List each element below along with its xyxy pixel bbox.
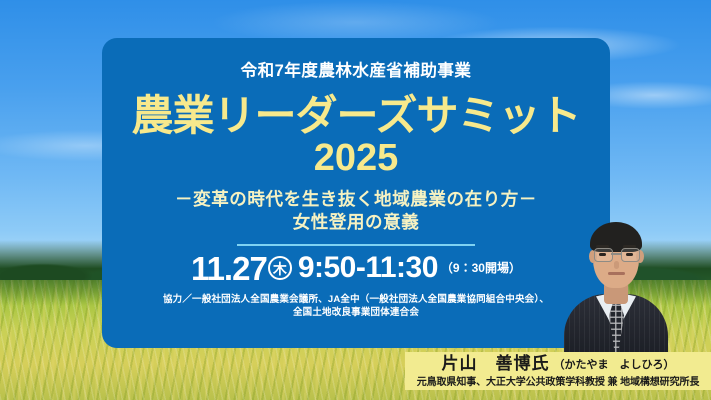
portrait-glasses-bridge xyxy=(611,253,621,255)
subtitle-block: －変革の時代を生き抜く地域農業の在り方－ 女性登用の意義 xyxy=(116,188,596,234)
info-panel: 令和7年度農林水産省補助事業 農業リーダーズサミット 2025 －変革の時代を生… xyxy=(102,38,610,348)
speaker-caption-band: 片山 善博氏（かたやま よしひろ） 元鳥取県知事、大正大学公共政策学科教授 兼 … xyxy=(405,352,711,390)
speaker-name-row: 片山 善博氏（かたやま よしひろ） xyxy=(405,355,711,374)
sponsors-line-1: 協力／一般社団法人全国農業会議所、JA全中（一般社団法人全国農業協同組合中央会）… xyxy=(116,293,596,307)
speaker-name: 片山 善博氏 xyxy=(442,354,550,373)
event-datetime: 11.27木9:50-11:30（9：30開場） xyxy=(116,252,596,285)
portrait-eye-left xyxy=(599,253,606,256)
program-eyebrow: 令和7年度農林水産省補助事業 xyxy=(116,62,596,82)
event-day-of-week-badge: 木 xyxy=(268,256,292,280)
portrait-mouth xyxy=(608,272,625,275)
subtitle-line-2: 女性登用の意義 xyxy=(116,211,596,234)
subtitle-line-1: －変革の時代を生き抜く地域農業の在り方－ xyxy=(116,188,596,211)
event-poster: 令和7年度農林水産省補助事業 農業リーダーズサミット 2025 －変革の時代を生… xyxy=(0,0,711,400)
speaker-role: 元鳥取県知事、大正大学公共政策学科教授 兼 地域構想研究所長 xyxy=(405,376,711,390)
page-title: 農業リーダーズサミット xyxy=(116,93,596,138)
portrait-eye-right xyxy=(626,253,633,256)
event-date: 11.27 xyxy=(191,250,267,287)
sponsors-block: 協力／一般社団法人全国農業会議所、JA全中（一般社団法人全国農業協同組合中央会）… xyxy=(116,293,596,321)
event-time: 9:50-11:30 xyxy=(298,251,438,284)
title-year: 2025 xyxy=(116,139,596,179)
portrait-nose xyxy=(614,261,619,269)
speaker-name-kana: （かたやま よしひろ） xyxy=(554,359,675,371)
divider-rule xyxy=(237,244,475,246)
doors-open-note: （9：30開場） xyxy=(441,261,521,275)
sponsors-line-2: 全国土地改良事業団体連合会 xyxy=(116,306,596,320)
